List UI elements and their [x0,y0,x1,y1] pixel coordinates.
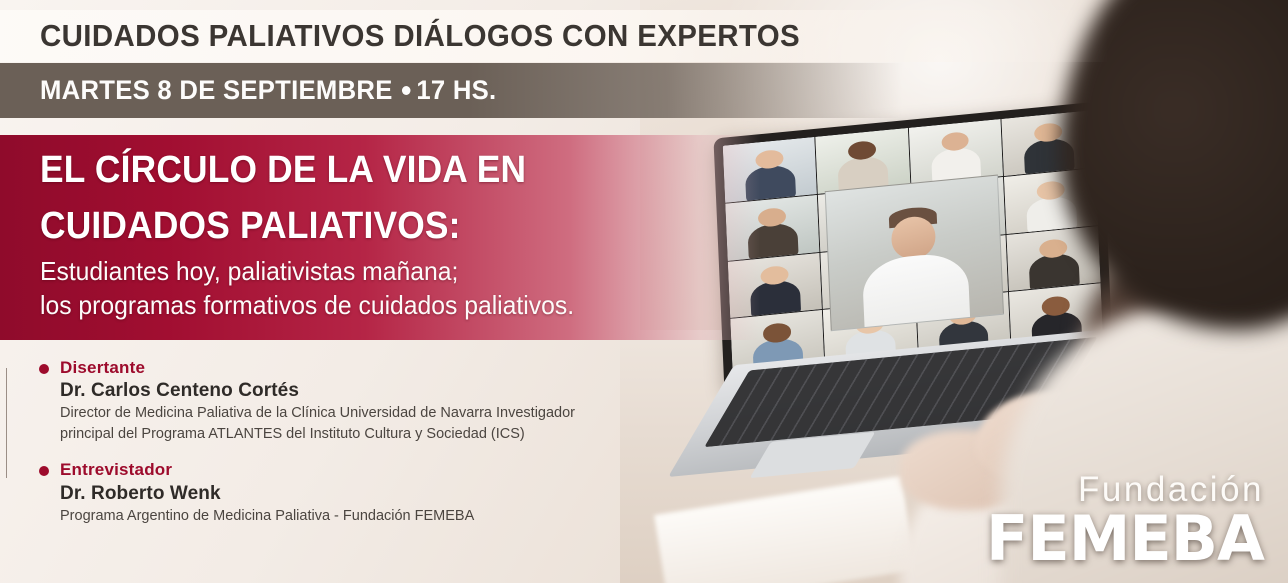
credit-speaker: Disertante Dr. Carlos Centeno Cortés Dir… [38,358,718,444]
event-date: MARTES 8 DE SEPTIEMBRE [40,75,393,106]
headline-band: EL CÍRCULO DE LA VIDA EN CUIDADOS PALIAT… [0,135,760,340]
credit-name: Dr. Carlos Centeno Cortés [60,380,718,402]
credit-role: Entrevistador [60,460,718,480]
dot-separator-icon [402,86,411,95]
bullet-icon [39,466,49,476]
credit-desc-line-1: Director de Medicina Paliativa de la Clí… [60,403,718,423]
headline-line-2: CUIDADOS PALIATIVOS: [40,207,710,247]
logo-word-femeba: FEMEBA [986,509,1264,569]
headline-line-1: EL CÍRCULO DE LA VIDA EN [40,151,710,191]
series-title: CUIDADOS PALIATIVOS DIÁLOGOS CON EXPERTO… [40,18,800,54]
event-banner: CUIDADOS PALIATIVOS DIÁLOGOS CON EXPERTO… [0,0,1288,583]
femeba-logo: Fundación FEMEBA [986,472,1264,569]
subtitle-line-1: Estudiantes hoy, paliativistas mañana; [40,256,724,288]
credit-role: Disertante [60,358,718,378]
bullet-connector-line [6,368,7,478]
event-time: 17 HS. [416,75,496,106]
date-time-row: MARTES 8 DE SEPTIEMBRE 17 HS. [40,75,496,106]
credit-name: Dr. Roberto Wenk [60,483,718,505]
bullet-icon [39,364,49,374]
credits-list: Disertante Dr. Carlos Centeno Cortés Dir… [38,358,718,526]
credit-desc-line-1: Programa Argentino de Medicina Paliativa… [60,506,718,526]
date-band: MARTES 8 DE SEPTIEMBRE 17 HS. [0,63,902,118]
active-speaker-tile [825,175,1003,332]
credit-interviewer: Entrevistador Dr. Roberto Wenk Programa … [38,460,718,525]
subtitle-line-2: los programas formativos de cuidados pal… [40,290,724,322]
series-title-band: CUIDADOS PALIATIVOS DIÁLOGOS CON EXPERTO… [0,10,1108,62]
credit-desc-line-2: principal del Programa ATLANTES del Inst… [60,424,718,444]
